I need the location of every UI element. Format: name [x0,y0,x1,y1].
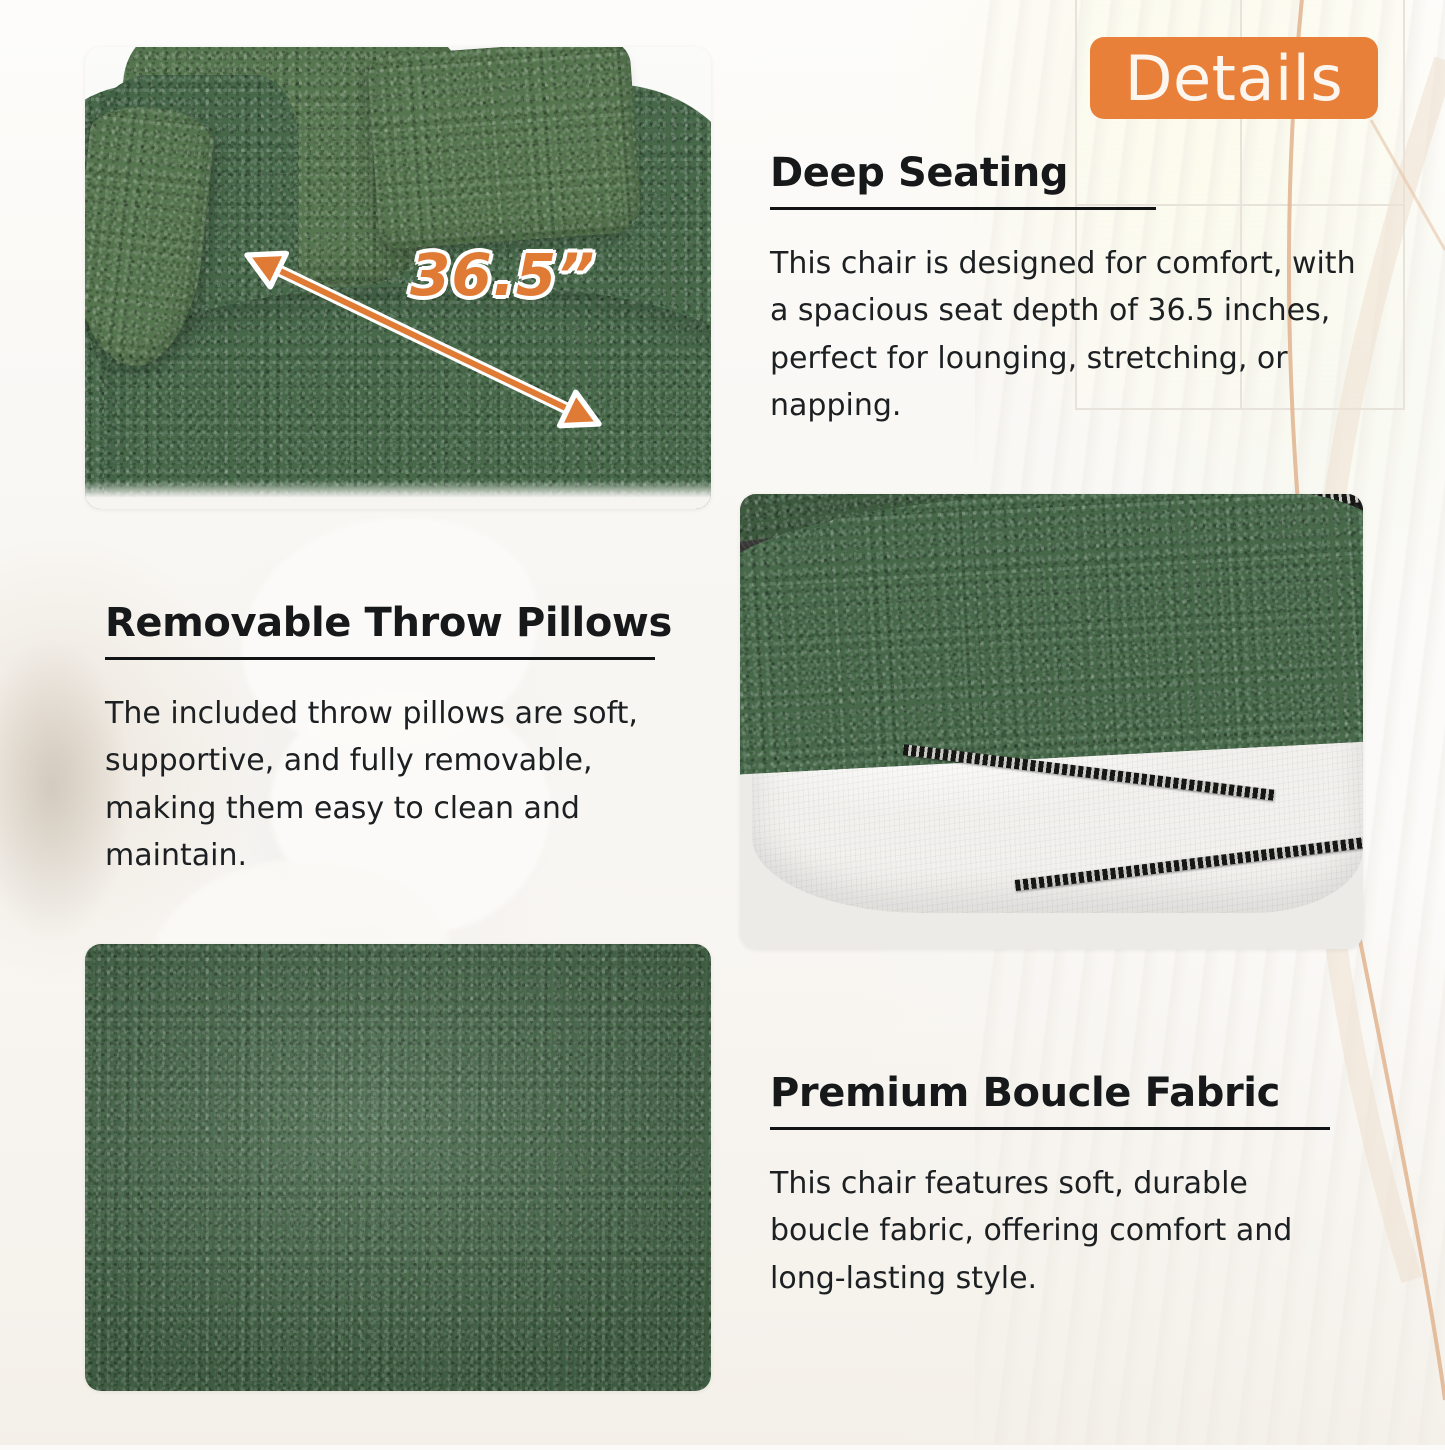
section-body: This chair is designed for comfort, with… [770,240,1368,430]
seat-photo-scene [85,47,711,509]
seat-photo-floor [85,481,711,509]
details-badge: Details [1090,37,1378,119]
cushion-bottom-fabric [740,494,1363,775]
fabric-swatch-shading [85,944,711,1391]
chair-seat-cushion [104,287,711,509]
section-deep-seating: Deep Seating This chair is designed for … [770,152,1370,430]
section-body: The included throw pillows are soft, sup… [105,690,665,880]
lumbar-throw-pillow [367,47,643,250]
section-divider [770,207,1156,210]
zipper-detail-photo [740,494,1363,949]
deep-seating-photo [85,47,711,509]
section-title: Deep Seating [770,152,1370,194]
section-title: Removable Throw Pillows [105,602,675,644]
section-divider [770,1127,1330,1130]
section-title: Premium Boucle Fabric [770,1072,1370,1114]
section-body: This chair features soft, durable boucle… [770,1160,1315,1302]
section-removable-throw-pillows: Removable Throw Pillows The included thr… [105,602,675,880]
section-divider [105,657,655,660]
section-premium-boucle-fabric: Premium Boucle Fabric This chair feature… [770,1072,1370,1302]
fabric-swatch-photo [85,944,711,1391]
zipper-photo-scene [740,494,1363,949]
